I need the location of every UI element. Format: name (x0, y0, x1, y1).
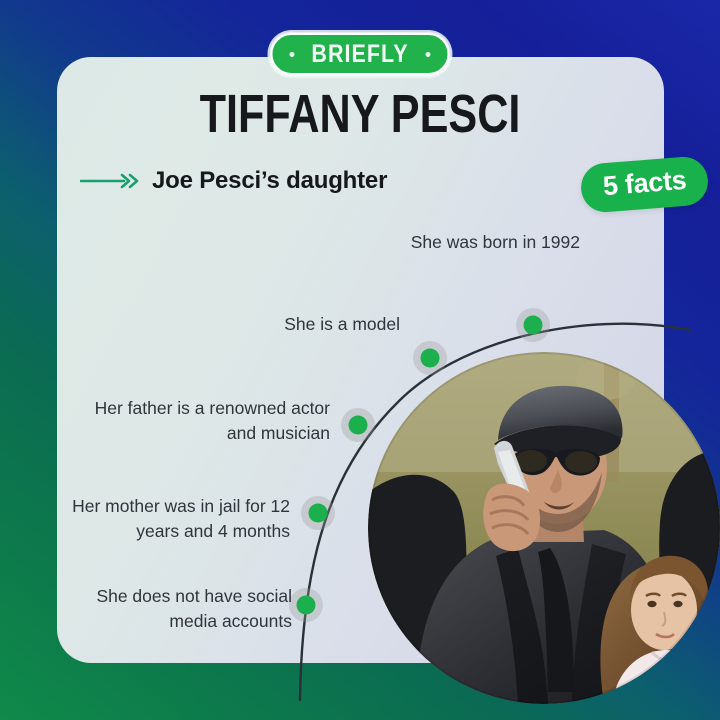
briefly-logo-inner: BRIEFLY (270, 33, 449, 75)
facts-count-label: 5 facts (601, 165, 687, 201)
fact-label: She was born in 1992 (411, 230, 580, 255)
fact-label: She is a model (284, 312, 400, 337)
dot-icon-right (426, 52, 431, 57)
subtitle-text: Joe Pesci’s daughter (152, 168, 387, 194)
arrow-double-chevron-right-icon (80, 172, 142, 190)
briefly-logo-badge[interactable]: BRIEFLY (267, 30, 452, 78)
portrait-photo (368, 352, 720, 704)
page-title: TIFFANY PESCI (72, 86, 648, 142)
facts-count-badge[interactable]: 5 facts (579, 155, 710, 214)
infographic-canvas: BRIEFLY TIFFANY PESCI Joe Pesci’s daught… (0, 0, 720, 720)
subtitle-row: Joe Pesci’s daughter (80, 168, 387, 194)
briefly-logo-text: BRIEFLY (311, 42, 408, 67)
fact-label: Her father is a renowned actor and music… (95, 396, 330, 446)
dot-icon-left (289, 52, 294, 57)
fact-label: Her mother was in jail for 12 years and … (72, 494, 290, 544)
fact-label: She does not have social media accounts (96, 584, 292, 634)
